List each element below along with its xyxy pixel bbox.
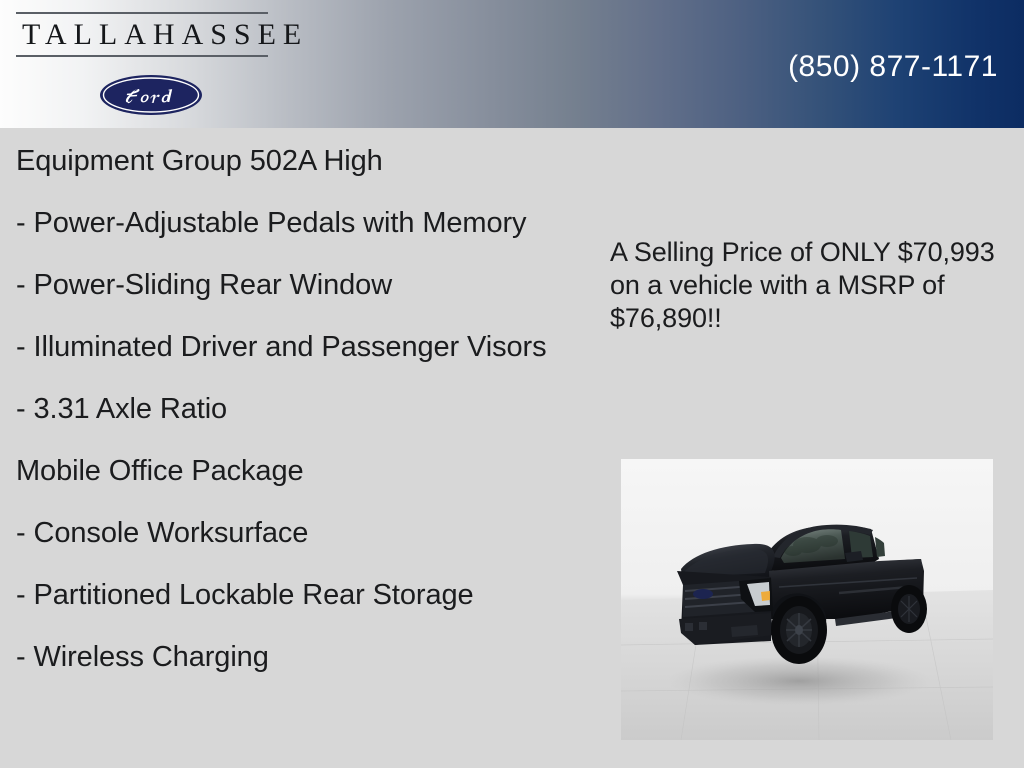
spec-line: Mobile Office Package	[16, 453, 576, 489]
spec-line: - Console Worksurface	[16, 515, 576, 551]
equipment-spec-list: Equipment Group 502A High - Power-Adjust…	[16, 143, 576, 675]
spec-line: - Partitioned Lockable Rear Storage	[16, 577, 576, 613]
pricing-text: A Selling Price of ONLY $70,993 on a veh…	[610, 236, 1002, 335]
dealer-logo-block: TALLAHASSEE	[16, 12, 268, 57]
page-header: TALLAHASSEE (850) 877-1171	[0, 0, 1024, 128]
spec-line: - 3.31 Axle Ratio	[16, 391, 576, 427]
spec-line: - Power-Adjustable Pedals with Memory	[16, 205, 576, 241]
vehicle-photo	[621, 459, 993, 740]
dealer-city-name: TALLAHASSEE	[16, 18, 268, 52]
spec-line: - Illuminated Driver and Passenger Visor…	[16, 329, 576, 365]
dealer-phone-number[interactable]: (850) 877-1171	[788, 50, 998, 84]
spec-line: - Power-Sliding Rear Window	[16, 267, 576, 303]
spec-line: - Wireless Charging	[16, 639, 576, 675]
spec-line: Equipment Group 502A High	[16, 143, 576, 179]
logo-rule-bottom	[16, 55, 268, 57]
ford-oval-logo-icon	[99, 74, 203, 116]
logo-rule-top	[16, 12, 268, 14]
pricing-callout: A Selling Price of ONLY $70,993 on a veh…	[610, 236, 1002, 335]
